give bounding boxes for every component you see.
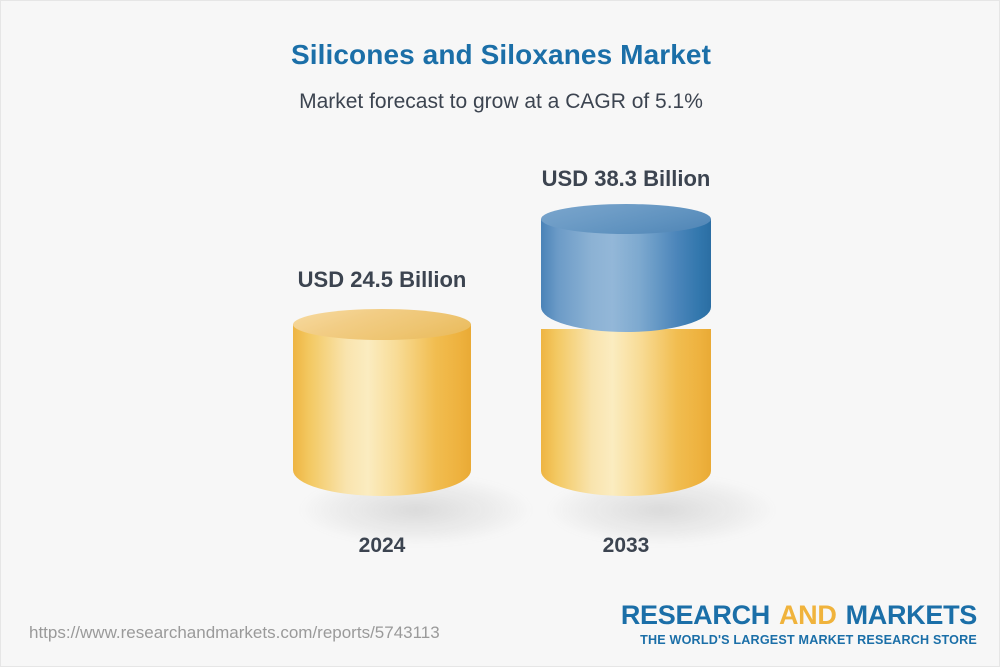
chart-canvas: Silicones and Siloxanes Market Market fo… (0, 0, 1000, 667)
chart-plot-area: USD 24.5 Billion 2024 USD 38.3 Billion (1, 1, 1000, 601)
bar-value-label-2033: USD 38.3 Billion (426, 166, 826, 192)
researchandmarkets-logo[interactable]: RESEARCHANDMARKETS THE WORLD'S LARGEST M… (621, 601, 977, 647)
cylinder-top-cap-2024 (293, 309, 471, 340)
report-url[interactable]: https://www.researchandmarkets.com/repor… (29, 623, 440, 643)
category-label-2033: 2033 (426, 534, 826, 558)
cylinder-body-base-2024 (293, 324, 471, 496)
cylinder-body-base-2033 (541, 329, 711, 496)
cylinder-top-cap-2033 (541, 204, 711, 234)
logo-word-and: AND (779, 600, 837, 630)
bar-value-label-2024: USD 24.5 Billion (182, 267, 582, 293)
cylinder-body-growth-2033 (541, 219, 711, 332)
logo-tagline: THE WORLD'S LARGEST MARKET RESEARCH STOR… (621, 633, 977, 647)
logo-word-research: RESEARCH (621, 600, 770, 630)
logo-wordmark: RESEARCHANDMARKETS (621, 601, 977, 630)
logo-word-markets: MARKETS (846, 600, 977, 630)
